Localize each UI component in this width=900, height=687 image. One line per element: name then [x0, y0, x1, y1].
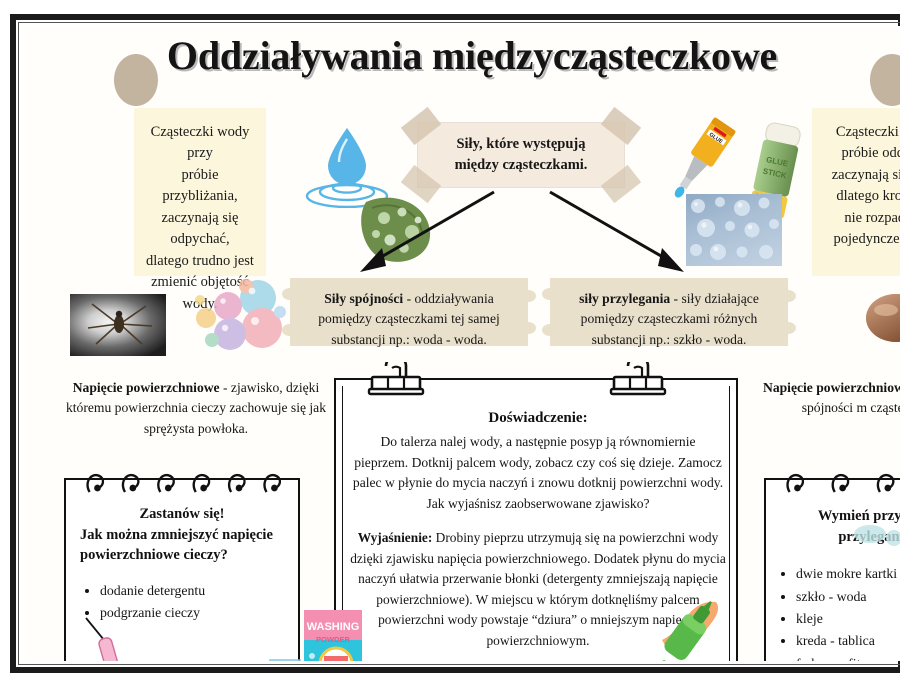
- list-item: farba - sufit: [796, 653, 900, 661]
- spiral-rings-left-icon: [66, 468, 298, 494]
- def-right-term: Napięcie powierzchniowe: [763, 380, 900, 395]
- reflect-question-line-1: Jak można zmniejszyć napięcie: [80, 527, 273, 543]
- poster-root: Oddziaływania międzycząsteczkowe Cząstec…: [0, 0, 900, 687]
- soap-bubbles-icon: [184, 276, 292, 362]
- intro-left-line-2: próbie przybliżania,: [144, 165, 256, 208]
- adhesion-term: siły przylegania: [579, 291, 670, 306]
- center-concept-box: Siły, które występują między cząsteczkam…: [418, 123, 624, 187]
- intro-right-line-6: pojedyncze czą: [822, 229, 900, 250]
- page-title: Oddziaływania międzycząsteczkowe: [22, 32, 900, 79]
- examples-list: dwie mokre kartki szkło - woda kleje kre…: [766, 563, 900, 661]
- reflect-heading-top: Zastanów się!: [80, 504, 284, 525]
- water-droplets-photo: [686, 194, 782, 266]
- powder-label-line-1: WASHING: [307, 621, 360, 633]
- explanation-label: Wyjaśnienie:: [358, 530, 433, 545]
- small-bubbles-icon: [850, 520, 900, 554]
- branch-box-cohesion: Siły spójności - oddziaływania pomiędzy …: [290, 278, 528, 346]
- surface-tension-definition-left: Napięcie powierzchniowe - zjawisko, dzię…: [54, 378, 338, 439]
- experiment-body: Do talerza nalej wody, a następnie posyp…: [352, 432, 724, 515]
- center-box-line-1: Siły, które występują: [456, 136, 585, 152]
- powder-label-line-2: POWDER: [316, 635, 350, 644]
- notepad-adhesion-examples: Wymień przykłady przylegania: dwie mokre…: [764, 478, 900, 661]
- list-item: szkło - woda: [796, 586, 900, 608]
- intro-right-line-3: zaczynają się pr: [822, 165, 900, 186]
- experiment-heading: Doświadczenie:: [336, 410, 740, 427]
- copper-droplet-icon: [864, 282, 900, 352]
- water-strider-photo: [70, 294, 166, 356]
- list-item: kleje: [796, 608, 900, 630]
- intro-right-line-2: próbie oddal: [822, 143, 900, 164]
- binder-clip-right-icon: [608, 362, 668, 396]
- poster-canvas: Oddziaływania międzycząsteczkowe Cząstec…: [22, 26, 900, 661]
- intro-note-right: Cząsteczki wo próbie oddal zaczynają się…: [812, 108, 900, 276]
- arrow-to-cohesion: [352, 186, 502, 282]
- torn-nub: [520, 290, 536, 302]
- intro-right-line-1: Cząsteczki wo: [822, 122, 900, 143]
- cohesion-term: Siły spójności: [324, 291, 403, 306]
- def-left-term: Napięcie powierzchniowe: [73, 380, 220, 395]
- arrow-to-adhesion: [542, 186, 692, 282]
- washing-powder-box-icon: WASHING POWDER: [266, 598, 386, 661]
- torn-nub: [780, 322, 796, 334]
- list-item: kreda - tablica: [796, 630, 900, 652]
- intro-right-line-5: nie rozpada: [822, 208, 900, 229]
- branch-box-adhesion: siły przylegania - siły działające pomię…: [550, 278, 788, 346]
- hand-dish-soap-sponge-icon: [608, 596, 728, 661]
- intro-right-line-4: dlatego kropla: [822, 186, 900, 207]
- test-tube-icon: [82, 614, 128, 661]
- intro-left-line-3: zaczynają się odpychać,: [144, 208, 256, 251]
- intro-left-line-4: dlatego trudno jest: [144, 251, 256, 272]
- center-box-line-2: między cząsteczkami.: [455, 157, 588, 173]
- torn-nub: [520, 322, 536, 334]
- torn-nub: [780, 290, 796, 302]
- list-item: dwie mokre kartki: [796, 563, 900, 585]
- binder-clip-left-icon: [366, 362, 426, 396]
- reflect-question-line-2: powierzchniowe cieczy?: [80, 547, 228, 563]
- surface-tension-definition-right: Napięcie powierzchniowe z istnienia sił …: [758, 378, 900, 419]
- intro-note-left: Cząsteczki wody przy próbie przybliżania…: [134, 108, 266, 276]
- spiral-rings-right-icon: [766, 468, 900, 494]
- intro-left-line-1: Cząsteczki wody przy: [144, 122, 256, 165]
